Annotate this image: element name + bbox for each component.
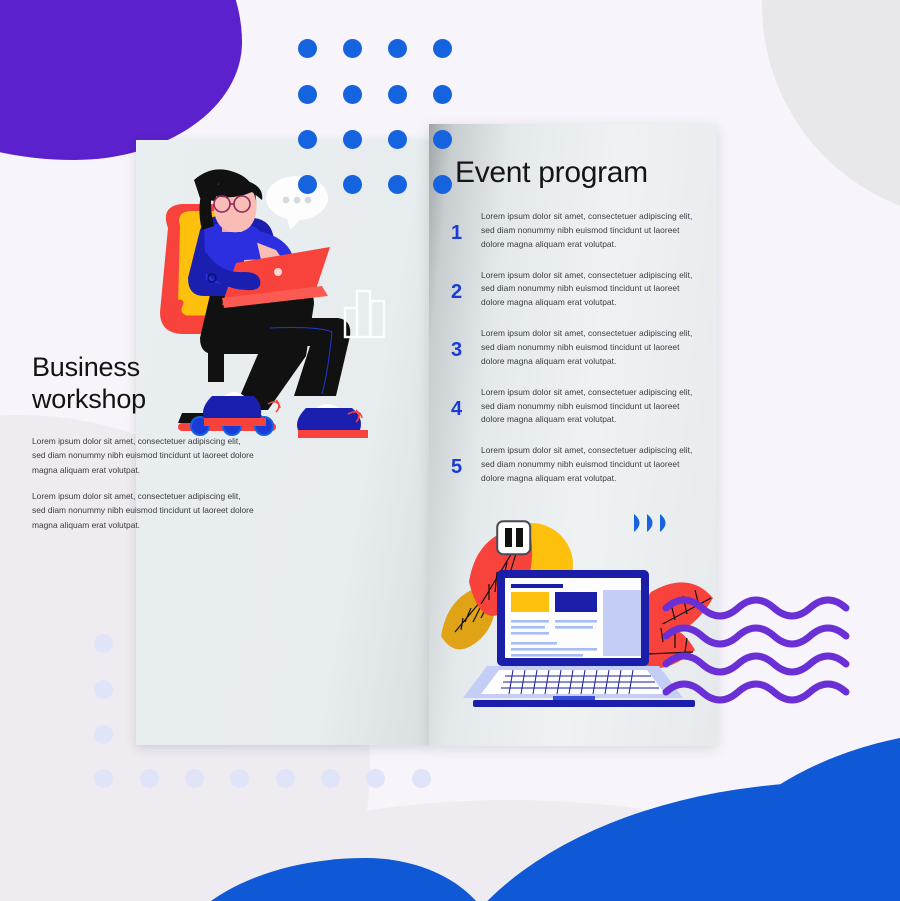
grid-dot	[388, 39, 407, 58]
list-item: 3 Lorem ipsum dolor sit amet, consectetu…	[451, 327, 701, 369]
left-panel-paragraph-2: Lorem ipsum dolor sit amet, consectetuer…	[32, 489, 254, 532]
list-item-text: Lorem ipsum dolor sit amet, consectetuer…	[481, 327, 701, 369]
triple-play-arrow-icon	[634, 512, 674, 534]
light-dot	[94, 725, 113, 744]
light-dot	[366, 769, 385, 788]
left-panel-title: Business workshop	[32, 352, 146, 415]
light-dot	[94, 769, 113, 788]
light-dot	[94, 680, 113, 699]
list-item-number: 3	[451, 327, 481, 362]
list-item-number: 4	[451, 386, 481, 421]
grid-dot	[298, 39, 317, 58]
grid-dot	[433, 130, 452, 149]
list-item-number: 1	[451, 210, 481, 245]
purple-wave-lines	[664, 592, 874, 702]
grid-dot	[343, 130, 362, 149]
light-dot	[230, 769, 249, 788]
light-dot	[140, 769, 159, 788]
light-dot	[185, 769, 204, 788]
title-line-2: workshop	[32, 384, 146, 416]
light-dot	[412, 769, 431, 788]
light-dot	[321, 769, 340, 788]
light-dot	[94, 634, 113, 653]
pause-icon[interactable]	[496, 520, 532, 558]
purple-blob-top-left	[0, 0, 242, 160]
title-line-1: Business	[32, 352, 146, 384]
list-item: 5 Lorem ipsum dolor sit amet, consectetu…	[451, 444, 701, 486]
list-item-text: Lorem ipsum dolor sit amet, consectetuer…	[481, 210, 701, 252]
gray-circle-top-right	[762, 0, 900, 220]
left-panel-paragraph-1: Lorem ipsum dolor sit amet, consectetuer…	[32, 434, 254, 477]
event-program-list: 1 Lorem ipsum dolor sit amet, consectetu…	[451, 210, 701, 503]
grid-dot	[433, 85, 452, 104]
grid-dot	[343, 85, 362, 104]
grid-dot	[298, 130, 317, 149]
grid-dot	[388, 175, 407, 194]
list-item-text: Lorem ipsum dolor sit amet, consectetuer…	[481, 269, 701, 311]
grid-dot	[298, 85, 317, 104]
list-item-number: 5	[451, 444, 481, 479]
list-item: 4 Lorem ipsum dolor sit amet, consectetu…	[451, 386, 701, 428]
page-title: Event program	[455, 156, 648, 190]
list-item: 2 Lorem ipsum dolor sit amet, consectetu…	[451, 269, 701, 311]
poster-canvas: Business workshop Lorem ipsum dolor sit …	[0, 0, 900, 901]
grid-dot	[388, 130, 407, 149]
list-item-number: 2	[451, 269, 481, 304]
list-item-text: Lorem ipsum dolor sit amet, consectetuer…	[481, 386, 701, 428]
list-item: 1 Lorem ipsum dolor sit amet, consectetu…	[451, 210, 701, 252]
light-dot	[276, 769, 295, 788]
grid-dot	[388, 85, 407, 104]
bar-chart-icon	[344, 289, 386, 339]
grid-dot	[298, 175, 317, 194]
list-item-text: Lorem ipsum dolor sit amet, consectetuer…	[481, 444, 701, 486]
grid-dot	[343, 175, 362, 194]
grid-dot	[433, 175, 452, 194]
grid-dot	[343, 39, 362, 58]
grid-dot	[433, 39, 452, 58]
